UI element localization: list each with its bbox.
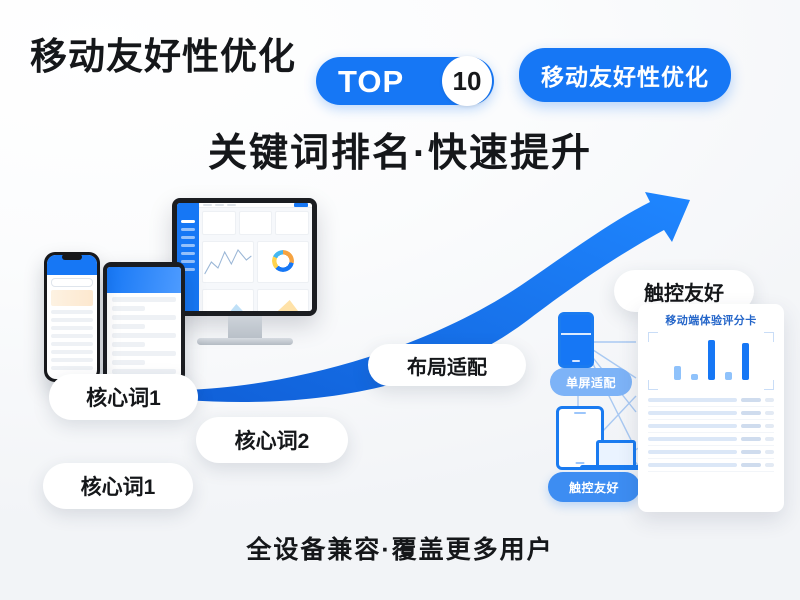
diagram-laptop-base — [580, 465, 646, 470]
scorecard-row — [648, 433, 774, 446]
diagram-tag-touch-friendly[interactable]: 触控友好 — [548, 472, 640, 502]
phone-list-row — [51, 310, 93, 314]
tablet-mockup — [103, 262, 185, 382]
top-badge-number: 10 — [442, 56, 492, 106]
desktop-monitor-mockup — [172, 198, 317, 345]
keyword-pill-3[interactable]: 核心词1 — [43, 463, 193, 509]
monitor-stand-foot — [197, 338, 293, 345]
mobile-scorecard: 移动端体验评分卡 — [638, 304, 784, 512]
top-rank-badge: TOP 10 — [316, 57, 494, 105]
phone-list-row — [51, 342, 93, 346]
top-badge-word: TOP — [338, 66, 404, 97]
tablet-list-row — [112, 360, 145, 365]
monitor-screen — [177, 203, 312, 311]
dashboard-widget — [202, 211, 236, 235]
tablet-list-row — [112, 324, 145, 329]
dashboard-main — [199, 203, 312, 311]
page-title: 移动友好性优化 — [30, 26, 296, 80]
poster-canvas: 移动友好性优化 TOP 10 移动友好性优化 关键词排名·快速提升 — [0, 0, 800, 600]
scorecard-bars — [648, 338, 774, 380]
smartphone-mockup — [44, 252, 100, 382]
tablet-list-row — [112, 315, 176, 320]
dashboard-widget — [275, 211, 309, 235]
tablet-list-row — [112, 297, 176, 302]
phone-notch — [62, 254, 82, 260]
tablet-screen — [107, 267, 181, 377]
phone-screen — [47, 255, 97, 379]
dashboard-area-chart — [202, 289, 254, 311]
phone-list-row — [51, 318, 93, 322]
scorecard-row — [648, 407, 774, 420]
tablet-list-row — [112, 333, 176, 338]
scorecard-title: 移动端体验评分卡 — [638, 304, 784, 332]
tablet-list-row — [112, 306, 145, 311]
dashboard-area-chart — [257, 289, 309, 311]
dashboard-widget-row — [199, 238, 312, 286]
scorecard-row-list — [638, 390, 784, 472]
mobile-experience-diagram: 单屏适配 触控友好 移动端体验评分卡 — [540, 300, 790, 515]
footer-tagline: 全设备兼容·覆盖更多用户 — [0, 530, 800, 566]
keyword-pill-1[interactable]: 核心词1 — [49, 374, 198, 420]
header-tag-pill: 移动友好性优化 — [519, 48, 731, 102]
scorecard-row — [648, 446, 774, 459]
phone-list-row — [51, 358, 93, 362]
dashboard-widget-row — [199, 286, 312, 311]
phone-list-row — [51, 350, 93, 354]
phone-list-row — [51, 334, 93, 338]
tablet-hero-banner — [107, 267, 181, 293]
phone-promo-card — [51, 290, 93, 306]
tablet-list-row — [112, 342, 145, 347]
scorecard-row — [648, 394, 774, 407]
layout-adapt-pill[interactable]: 布局适配 — [368, 344, 526, 386]
phone-search-bar — [51, 278, 93, 287]
dashboard-widget — [239, 211, 273, 235]
tablet-list-row — [112, 351, 176, 356]
scorecard-chart — [648, 332, 774, 390]
monitor-bezel — [172, 198, 317, 316]
dashboard-donut-chart — [257, 241, 309, 283]
diagram-phone-small-icon — [558, 312, 594, 368]
scorecard-row — [648, 459, 774, 472]
dashboard-widget-row — [199, 208, 312, 238]
phone-list-row — [51, 326, 93, 330]
phone-list-row — [51, 366, 93, 370]
dashboard-line-chart — [202, 241, 254, 283]
scorecard-row — [648, 420, 774, 433]
diagram-tag-single-screen[interactable]: 单屏适配 — [550, 368, 632, 396]
keyword-pill-2[interactable]: 核心词2 — [196, 417, 348, 463]
monitor-stand-neck — [228, 316, 262, 338]
